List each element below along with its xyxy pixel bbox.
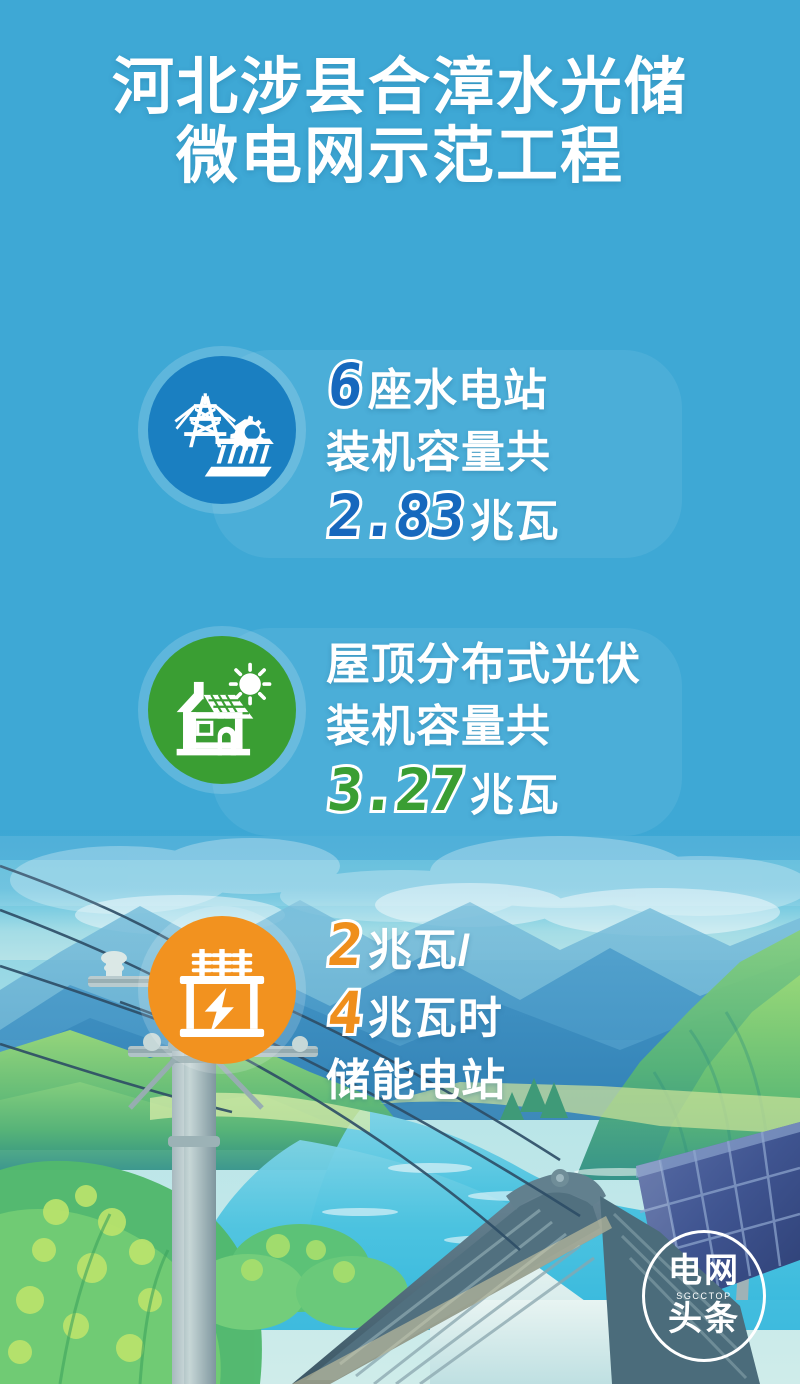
energy-storage-icon (148, 916, 296, 1064)
rooftop-solar-line-1: 屋顶分布式光伏 (326, 634, 641, 696)
hydropower-line-2: 装机容量共 (326, 422, 560, 484)
info-block-energy-storage: 2兆瓦/ 4兆瓦时 储能电站 (148, 912, 506, 1112)
energy-storage-glyph (168, 936, 276, 1044)
storage-power-unit: 兆瓦/ (368, 926, 471, 975)
rooftop-solar-line-3: 3.27兆瓦 (326, 758, 641, 828)
info-block-rooftop-solar: 屋顶分布式光伏 装机容量共 3.27兆瓦 (148, 632, 641, 828)
energy-storage-line-3: 储能电站 (326, 1050, 506, 1112)
rooftop-solar-glyph (168, 656, 276, 764)
energy-storage-text: 2兆瓦/ 4兆瓦时 储能电站 (326, 912, 506, 1112)
hydropower-count-unit: 座水电站 (368, 366, 548, 415)
rooftop-solar-line-2: 装机容量共 (326, 696, 641, 758)
rooftop-solar-icon (148, 636, 296, 784)
storage-energy-unit: 兆瓦时 (368, 994, 503, 1043)
title-line-2: 微电网示范工程 (0, 123, 800, 192)
poster-title: 河北涉县合漳水光储 微电网示范工程 (0, 54, 800, 193)
hydropower-line-3: 2.83兆瓦 (326, 484, 560, 554)
hydropower-station-icon (148, 356, 296, 504)
logo-bottom-text: 头条 (668, 1302, 740, 1338)
hydropower-text: 6座水电站 装机容量共 2.83兆瓦 (326, 352, 560, 554)
hydropower-count: 6 (323, 354, 367, 416)
hydropower-capacity-unit: 兆瓦 (470, 497, 560, 546)
hydropower-capacity: 2.83 (323, 484, 469, 548)
rooftop-solar-capacity-unit: 兆瓦 (470, 771, 560, 820)
hydropower-line-1: 6座水电站 (326, 354, 560, 422)
energy-storage-line-1: 2兆瓦/ (326, 914, 506, 982)
info-block-hydropower: 6座水电站 装机容量共 2.83兆瓦 (148, 352, 560, 554)
storage-power: 2 (323, 914, 367, 976)
sgcctop-logo[interactable]: 电网 SGCCTOP 头条 (642, 1230, 766, 1362)
storage-energy: 4 (323, 982, 367, 1044)
infographic-poster: 河北涉县合漳水光储 微电网示范工程 (0, 0, 800, 1384)
logo-top-text: 电网 (668, 1254, 740, 1290)
rooftop-solar-capacity: 3.27 (323, 758, 469, 822)
title-line-1: 河北涉县合漳水光储 (0, 54, 800, 123)
energy-storage-line-2: 4兆瓦时 (326, 982, 506, 1050)
rooftop-solar-text: 屋顶分布式光伏 装机容量共 3.27兆瓦 (326, 632, 641, 828)
hydropower-station-glyph (168, 376, 276, 484)
